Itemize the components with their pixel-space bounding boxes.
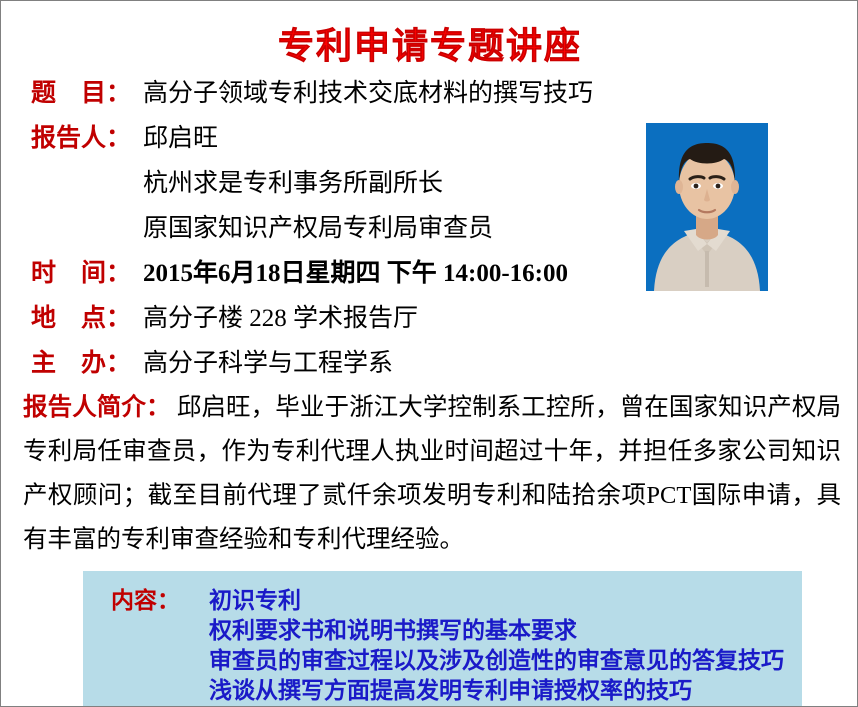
info-value-topic: 高分子领域专利技术交底材料的撰写技巧: [143, 73, 593, 109]
speaker-bio: 报告人简介： 邱启旺，毕业于浙江大学控制系工控所，曾在国家知识产权局专利局任审查…: [23, 386, 841, 562]
info-label-location: 地 点：: [31, 298, 143, 334]
content-row-4: 内容： 浅谈从撰写方面提高发明专利申请授权率的技巧: [83, 671, 802, 701]
bio-label: 报告人简介：: [23, 394, 171, 421]
page-title: 专利申请专题讲座: [1, 17, 858, 69]
speaker-photo: [646, 123, 768, 291]
seminar-poster: 专利申请专题讲座 题 目： 高分子领域专利技术交底材料的撰写技巧 报告人： 邱启…: [0, 0, 858, 707]
content-label: 内容：: [111, 581, 209, 615]
content-item-2: 权利要求书和说明书撰写的基本要求: [209, 611, 577, 645]
info-row-organizer: 主 办： 高分子科学与工程学系: [31, 343, 631, 388]
info-row-time: 时 间： 2015年6月18日星期四 下午 14:00-16:00: [31, 253, 631, 298]
info-row-speaker: 报告人： 邱启旺: [31, 118, 631, 163]
info-row-location: 地 点： 高分子楼 228 学术报告厅: [31, 298, 631, 343]
info-value-time: 2015年6月18日星期四 下午 14:00-16:00: [143, 253, 568, 289]
content-row-1: 内容： 初识专利: [83, 581, 802, 611]
info-label-speaker: 报告人：: [31, 118, 143, 154]
content-row-2: 内容： 权利要求书和说明书撰写的基本要求: [83, 611, 802, 641]
info-row-topic: 题 目： 高分子领域专利技术交底材料的撰写技巧: [31, 73, 631, 118]
content-item-1: 初识专利: [209, 581, 301, 615]
info-value-location: 高分子楼 228 学术报告厅: [143, 298, 418, 334]
info-row-speaker-title2: 报告人： 原国家知识产权局专利局审查员: [31, 208, 631, 253]
info-value-speaker-name: 邱启旺: [143, 118, 218, 154]
content-item-4: 浅谈从撰写方面提高发明专利申请授权率的技巧: [209, 671, 692, 705]
info-label-topic: 题 目：: [31, 73, 143, 109]
info-label-time: 时 间：: [31, 253, 143, 289]
info-label-organizer: 主 办：: [31, 343, 143, 379]
speaker-portrait-illustration: [646, 123, 768, 291]
content-item-3: 审查员的审查过程以及涉及创造性的审查意见的答复技巧: [209, 641, 784, 675]
content-box: 内容： 初识专利 内容： 权利要求书和说明书撰写的基本要求 内容： 审查员的审查…: [83, 571, 802, 707]
info-value-speaker-affiliation: 杭州求是专利事务所副所长: [143, 163, 443, 199]
info-row-speaker-title1: 报告人： 杭州求是专利事务所副所长: [31, 163, 631, 208]
content-row-3: 内容： 审查员的审查过程以及涉及创造性的审查意见的答复技巧: [83, 641, 802, 671]
info-value-organizer: 高分子科学与工程学系: [143, 343, 393, 379]
info-block: 题 目： 高分子领域专利技术交底材料的撰写技巧 报告人： 邱启旺 报告人： 杭州…: [31, 73, 631, 388]
info-value-speaker-former-role: 原国家知识产权局专利局审查员: [143, 208, 493, 244]
